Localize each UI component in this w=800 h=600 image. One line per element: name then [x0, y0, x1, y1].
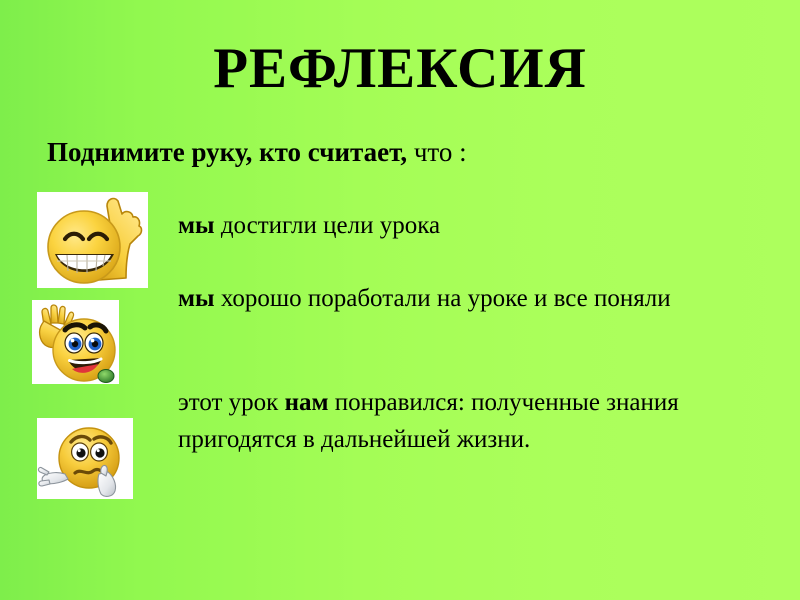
- item-3-bold-lead: нам: [285, 389, 329, 416]
- subtitle-bold-text: Поднимите руку, кто считает,: [47, 137, 407, 167]
- item-1-text: достигли цели урока: [215, 212, 441, 239]
- reflection-item-2: мы хорошо поработали на уроке и все поня…: [178, 280, 698, 317]
- subtitle-regular-text: что :: [407, 137, 467, 167]
- page-title: РЕФЛЕКСИЯ: [0, 38, 800, 100]
- reflection-item-3: этот урок нам понравился: полученные зна…: [178, 384, 698, 458]
- item-3-pre-bold-text: этот урок: [178, 389, 285, 416]
- item-1-bold-lead: мы: [178, 212, 215, 239]
- thumbs-up-grinning-smiley-icon: [37, 192, 148, 288]
- item-2-text: хорошо поработали на уроке и все поняли: [215, 285, 671, 312]
- item-2-bold-lead: мы: [178, 285, 215, 312]
- slide-canvas: РЕФЛЕКСИЯ Поднимите руку, кто считает, ч…: [0, 0, 800, 600]
- thinking-smiley-icon: [37, 418, 133, 499]
- reflection-item-1: мы достигли цели урока: [178, 207, 698, 244]
- subtitle: Поднимите руку, кто считает, что :: [47, 135, 467, 169]
- waving-happy-smiley-icon: [32, 300, 119, 384]
